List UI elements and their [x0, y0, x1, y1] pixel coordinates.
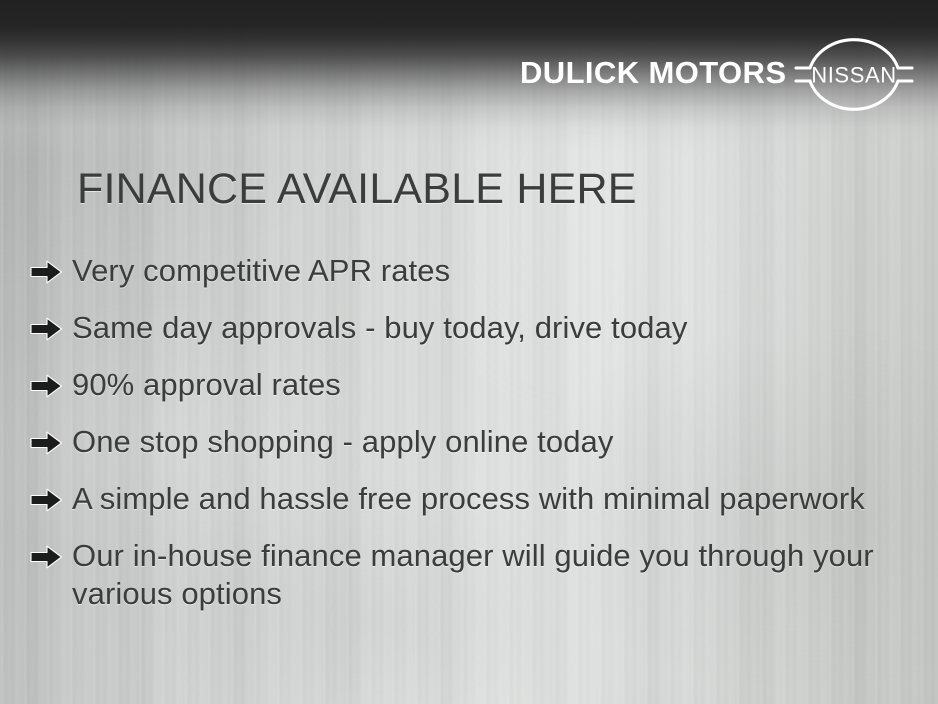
list-item: Very competitive APR rates — [30, 252, 918, 290]
list-item: One stop shopping - apply online today — [30, 423, 918, 461]
dealer-name: DULICK MOTORS — [520, 57, 786, 88]
benefits-list: Very competitive APR rates Same day appr… — [30, 252, 918, 632]
list-item-label: Very competitive APR rates — [72, 252, 450, 290]
list-item-label: Same day approvals - buy today, drive to… — [72, 309, 687, 347]
arrow-right-icon — [30, 541, 63, 573]
list-item-label: One stop shopping - apply online today — [72, 423, 614, 461]
list-item-label: A simple and hassle free process with mi… — [72, 480, 865, 518]
arrow-right-icon — [30, 484, 63, 516]
list-item: A simple and hassle free process with mi… — [30, 480, 918, 518]
list-item-label: 90% approval rates — [72, 366, 341, 404]
list-item: Same day approvals - buy today, drive to… — [30, 309, 918, 347]
arrow-right-icon — [30, 427, 63, 459]
arrow-right-icon — [30, 256, 63, 288]
list-item: Our in-house finance manager will guide … — [30, 537, 918, 613]
list-item-label: Our in-house finance manager will guide … — [72, 537, 918, 613]
list-item: 90% approval rates — [30, 366, 918, 404]
arrow-right-icon — [30, 313, 63, 345]
nissan-logo: NISSAN — [788, 24, 920, 124]
arrow-right-icon — [30, 370, 63, 402]
nissan-wordmark: NISSAN — [811, 63, 897, 88]
page-title: FINANCE AVAILABLE HERE — [77, 168, 637, 211]
finance-available-slide: DULICK MOTORS NISSAN FINANCE AVAILABLE H… — [0, 0, 938, 704]
